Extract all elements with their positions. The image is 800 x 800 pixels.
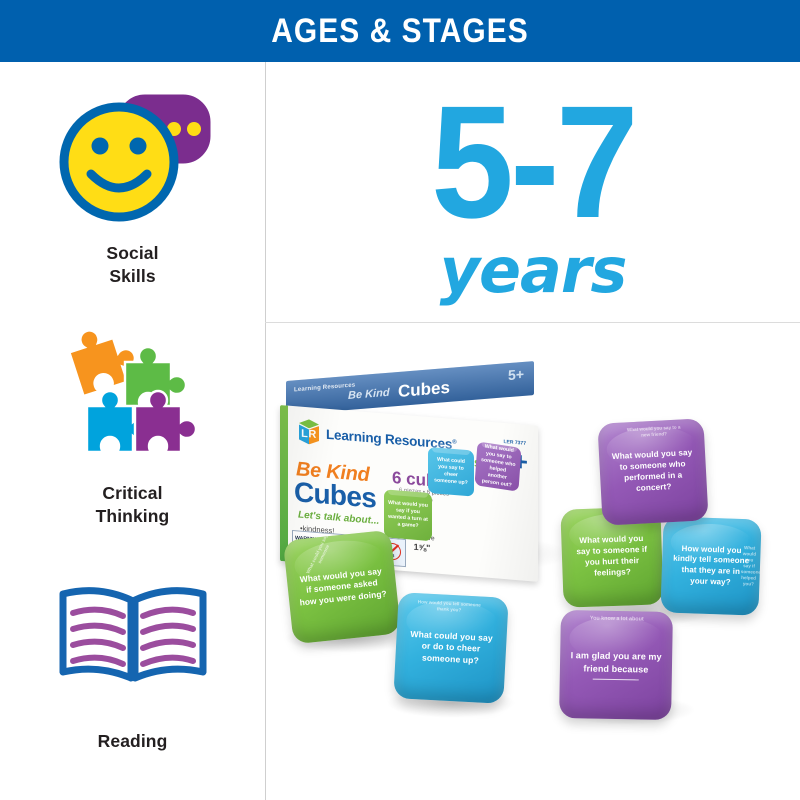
cube-purple-performed-in-a-concert[interactable]: What would you say to someone who perfor… (597, 418, 708, 525)
skill-label-line2: Skills (109, 266, 155, 286)
box-top-title-bold: Cubes (398, 378, 450, 402)
skill-label-line1: Reading (98, 731, 168, 751)
cube-blue-cheer-someone-up[interactable]: What could you say or do to cheer someon… (393, 592, 508, 704)
product-photo: Learning Resources Be Kind Cubes 5+ LR L… (266, 323, 800, 800)
skill-label: Reading (98, 730, 168, 753)
open-book-icon (53, 568, 213, 718)
age-range-block: 5-7 years (266, 62, 800, 322)
skill-item-reading: Reading (0, 568, 265, 800)
cube-face-text: I am glad you are my friend because (570, 650, 662, 676)
ages-and-stages-infographic: AGES & STAGES SocialSkil (0, 0, 800, 800)
age-unit-label: years (266, 240, 800, 302)
age-range-value: 5-7 (285, 82, 782, 242)
page-title: AGES & STAGES (48, 0, 752, 62)
cube-purple-glad-you-are-my-friend[interactable]: I am glad you are my friend because You … (559, 610, 673, 720)
skill-label: CriticalThinking (96, 482, 170, 528)
box-top-panel: Learning Resources Be Kind Cubes 5+ (286, 361, 534, 415)
puzzle-pieces-icon (53, 320, 213, 470)
cube-side-text: You know a lot about (585, 615, 649, 623)
cube-face-text-wrap: I am glad you are my friend because (559, 610, 673, 720)
skill-item-social-skills: SocialSkills (0, 80, 265, 320)
skill-label: SocialSkills (106, 242, 158, 288)
cube-blue-in-your-way[interactable]: How would you kindly tell someone that t… (660, 516, 761, 615)
skill-label-line2: Thinking (96, 506, 170, 526)
skills-rail: SocialSkills (0, 62, 265, 800)
skill-label-line1: Critical (102, 483, 162, 503)
header-banner: AGES & STAGES (0, 0, 800, 62)
skill-label-line1: Social (106, 243, 158, 263)
cube-green-how-you-were-doing[interactable]: What would you say if someone asked how … (283, 530, 401, 645)
box-top-age-badge: 5+ (508, 366, 524, 383)
cube-face-text: What would you say if someone asked how … (283, 530, 401, 645)
smiley-speech-bubble-icon (53, 80, 213, 230)
fill-in-blank-line (593, 677, 639, 680)
skill-item-critical-thinking: CriticalThinking (0, 320, 265, 568)
